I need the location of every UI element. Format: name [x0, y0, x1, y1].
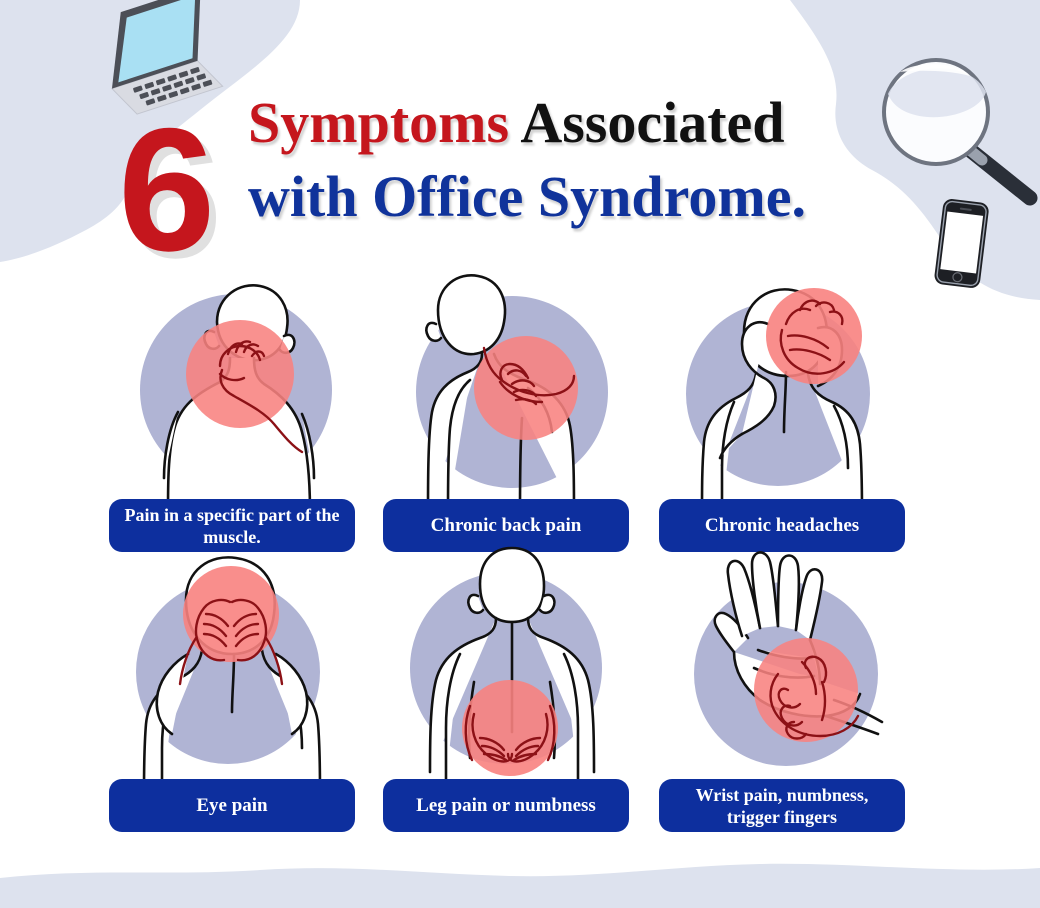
symptom-card[interactable]: Eye pain: [88, 542, 376, 832]
bottom-wave: [0, 864, 1040, 908]
illustration-leg-pain: [362, 542, 650, 792]
headline-number: 6: [118, 116, 211, 266]
symptom-card[interactable]: Pain in a specific part of the muscle.: [88, 262, 376, 552]
symptom-card[interactable]: Leg pain or numbness: [362, 542, 650, 832]
illustration-headache: [638, 262, 926, 512]
symptom-label: Wrist pain, numbness, trigger fingers: [659, 779, 905, 832]
symptom-label: Leg pain or numbness: [383, 779, 629, 832]
pain-circle: [462, 680, 558, 776]
symptom-card[interactable]: Chronic headaches: [638, 262, 926, 552]
headline-symptoms: Symptoms: [248, 90, 509, 155]
pain-circle: [754, 638, 858, 742]
pain-circle: [474, 336, 578, 440]
illustration-muscle-pain: [88, 262, 376, 512]
illustration-back-pain: [362, 262, 650, 512]
symptom-card[interactable]: Wrist pain, numbness, trigger fingers: [638, 542, 926, 832]
pain-circle: [183, 566, 279, 662]
title-block: 6 Symptoms Associated with Office Syndro…: [0, 54, 1040, 254]
illustration-eye-pain: [88, 542, 376, 792]
illustration-wrist-pain: [638, 542, 926, 792]
infographic-page: 6 Symptoms Associated with Office Syndro…: [0, 0, 1040, 908]
headline-text: Symptoms Associated with Office Syndrome…: [248, 86, 948, 234]
headline-associated: Associated: [520, 90, 784, 155]
pain-circle: [186, 320, 294, 428]
headline-line-2: with Office Syndrome.: [248, 160, 948, 234]
symptom-label: Eye pain: [109, 779, 355, 832]
symptom-card[interactable]: Chronic back pain: [362, 262, 650, 552]
headline-line-1: Symptoms Associated: [248, 86, 948, 160]
